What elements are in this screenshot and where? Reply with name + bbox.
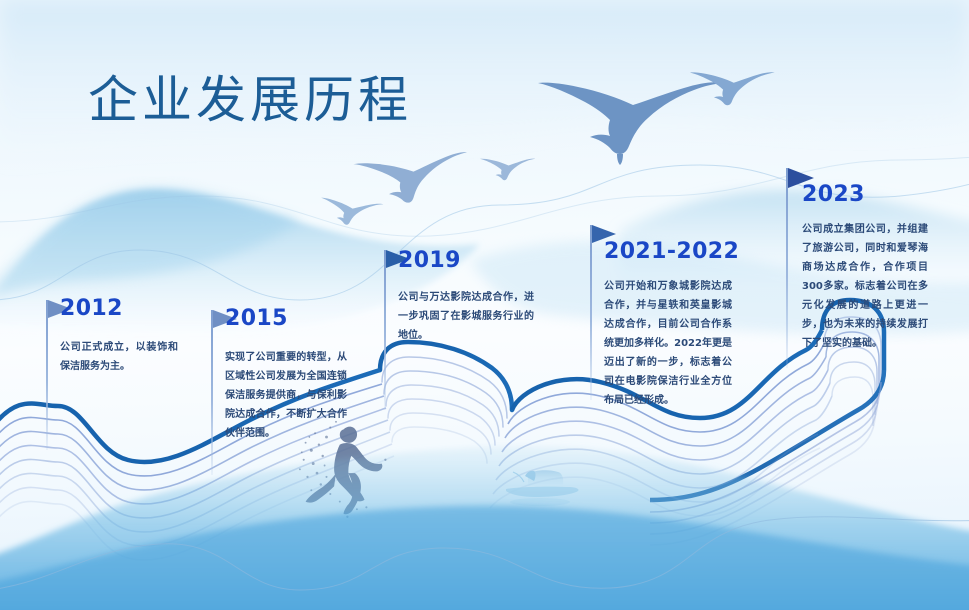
seagull-large-icon — [538, 82, 722, 165]
seagull-small-right-icon — [690, 72, 775, 105]
milestone-year: 2019 — [398, 248, 461, 273]
milestone-year: 2012 — [60, 296, 123, 321]
flagpole — [46, 300, 48, 450]
poster-canvas: 企业发展历程 — [0, 0, 969, 610]
flagpole — [786, 168, 788, 368]
flagpole — [384, 250, 386, 410]
seagull-tiny-center-icon — [480, 159, 535, 181]
milestone-description: 公司与万达影院达成合作，进一步巩固了在影城服务行业的地位。 — [398, 288, 534, 345]
ribbon-fold-left — [380, 342, 512, 463]
milestone-description: 公司正式成立，以装饰和保洁服务为主。 — [60, 338, 178, 376]
fisherman-boat-icon — [506, 470, 579, 506]
flagpole — [590, 225, 592, 400]
page-title: 企业发展历程 — [88, 60, 412, 132]
milestone-year: 2015 — [225, 306, 288, 331]
seagull-far-left-icon — [319, 198, 384, 229]
milestone-year: 2023 — [802, 182, 865, 207]
seagull-mid-left-icon — [353, 152, 471, 208]
milestone-description: 公司成立集团公司，并组建了旅游公司，同时和爱琴海商场达成合作，合作项目300多家… — [802, 220, 928, 353]
milestone-description: 公司开始和万象城影院达成合作，并与星轶和英皇影城达成合作，目前公司合作系统更加多… — [604, 277, 732, 410]
flagpole — [211, 310, 213, 475]
milestone-description: 实现了公司重要的转型，从区域性公司发展为全国连锁保洁服务提供商，与保利影院达成合… — [225, 348, 347, 443]
milestone-year: 2021-2022 — [604, 239, 739, 264]
